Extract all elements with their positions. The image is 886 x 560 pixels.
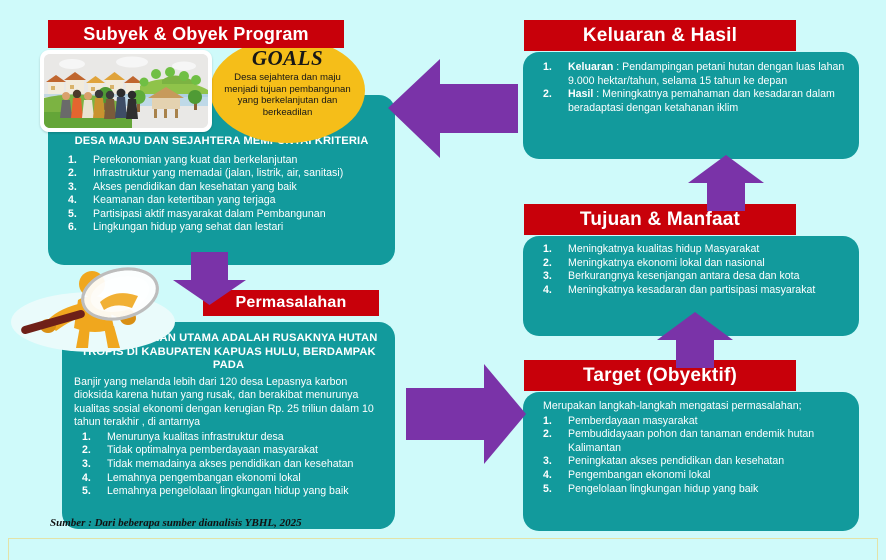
- list-item: 4.Meningkatnya kesadaran dan partisipasi…: [535, 284, 847, 298]
- list-item: 3.Peningkatan akses pendidikan dan keseh…: [535, 455, 847, 469]
- list-item: 1.Menurunya kualitas infrastruktur desa: [74, 431, 383, 445]
- tujuan-list: 1.Meningkatnya kualitas hidup Masyarakat…: [535, 243, 847, 297]
- list-item: 2.Infrastruktur yang memadai (jalan, lis…: [60, 167, 383, 181]
- subyek-list: 1.Perekonomian yang kuat dan berkelanjut…: [60, 154, 383, 236]
- permasalahan-list: 1.Menurunya kualitas infrastruktur desa …: [74, 431, 383, 499]
- magnifying-glass-figure-icon: [8, 262, 190, 354]
- bottom-rule: [8, 538, 878, 560]
- village-illustration: [40, 50, 212, 132]
- list-item: 2. Hasil : Meningkatnya pemahaman dan ke…: [535, 88, 847, 115]
- village-scene-icon: [44, 54, 208, 128]
- list-item: 4.Lemahnya pengembangan ekonomi lokal: [74, 472, 383, 486]
- list-item: 5.Partisipasi aktif masyarakat dalam Pem…: [60, 208, 383, 222]
- list-item: 2.Pembudidayaan pohon dan tanaman endemi…: [535, 428, 847, 455]
- hasil-text: : Meningkatnya pemahaman dan kesadaran d…: [568, 88, 835, 114]
- banner-permasalahan-label: Permasalahan: [236, 294, 347, 312]
- goals-title: GOALS: [252, 46, 323, 71]
- list-item: 5.Lemahnya pengelolaan lingkungan hidup …: [74, 485, 383, 499]
- source-caption: Sumber : Dari beberapa sumber dianalisis…: [50, 517, 302, 529]
- card-target-obyektif: Merupakan langkah-langkah mengatasi perm…: [523, 392, 859, 531]
- list-item: 4.Keamanan dan ketertiban yang terjaga: [60, 194, 383, 208]
- list-item: 3.Akses pendidikan dan kesehatan yang ba…: [60, 181, 383, 195]
- banner-subyek-obyek: Subyek & Obyek Program: [48, 20, 344, 48]
- list-item: 6.Lingkungan hidup yang sehat dan lestar…: [60, 221, 383, 235]
- list-item: 1. Keluaran : Pendampingan petani hutan …: [535, 61, 847, 88]
- list-item: 3.Berkurangnya kesenjangan antara desa d…: [535, 270, 847, 284]
- banner-keluaran-hasil-label: Keluaran & Hasil: [583, 25, 737, 47]
- arrow-left-to-subyek: [388, 57, 520, 160]
- list-item: 2.Meningkatnya ekonomi lokal dan nasiona…: [535, 257, 847, 271]
- list-item: 1.Perekonomian yang kuat dan berkelanjut…: [60, 154, 383, 168]
- keluaran-lead: Keluaran: [568, 61, 613, 73]
- target-intro: Merupakan langkah-langkah mengatasi perm…: [535, 400, 847, 414]
- card-keluaran-hasil: 1. Keluaran : Pendampingan petani hutan …: [523, 52, 859, 159]
- list-item: 2.Tidak optimalnya pemberdayaan masyarak…: [74, 444, 383, 458]
- subyek-caption: DESA MAJU DAN SEJAHTERA MEMPUNYAI KRITER…: [60, 135, 383, 149]
- permasalahan-intro: Banjir yang melanda lebih dari 120 desa …: [74, 376, 383, 430]
- list-item: 5.Pengelolaan lingkungan hidup yang baik: [535, 483, 847, 497]
- list-item: 1.Pemberdayaan masyarakat: [535, 415, 847, 429]
- arrow-up-to-tujuan: [656, 312, 734, 369]
- keluaran-list: 1. Keluaran : Pendampingan petani hutan …: [535, 61, 847, 115]
- goals-body: Desa sejahtera dan maju menjadi tujuan p…: [210, 71, 365, 118]
- list-item: 4.Pengembangan ekonomi lokal: [535, 469, 847, 483]
- arrow-up-to-keluaran: [687, 155, 765, 212]
- list-item: 1.Meningkatnya kualitas hidup Masyarakat: [535, 243, 847, 257]
- infographic-canvas: Subyek & Obyek Program DESA MAJU DAN SEJ…: [0, 0, 886, 560]
- arrow-right-to-target: [404, 362, 528, 466]
- banner-subyek-obyek-label: Subyek & Obyek Program: [83, 24, 308, 45]
- banner-keluaran-hasil: Keluaran & Hasil: [524, 20, 796, 51]
- target-list: 1.Pemberdayaan masyarakat 2.Pembudidayaa…: [535, 415, 847, 497]
- goals-ellipse: GOALS Desa sejahtera dan maju menjadi tu…: [210, 38, 365, 143]
- hasil-lead: Hasil: [568, 88, 593, 100]
- list-item: 3.Tidak memadainya akses pendidikan dan …: [74, 458, 383, 472]
